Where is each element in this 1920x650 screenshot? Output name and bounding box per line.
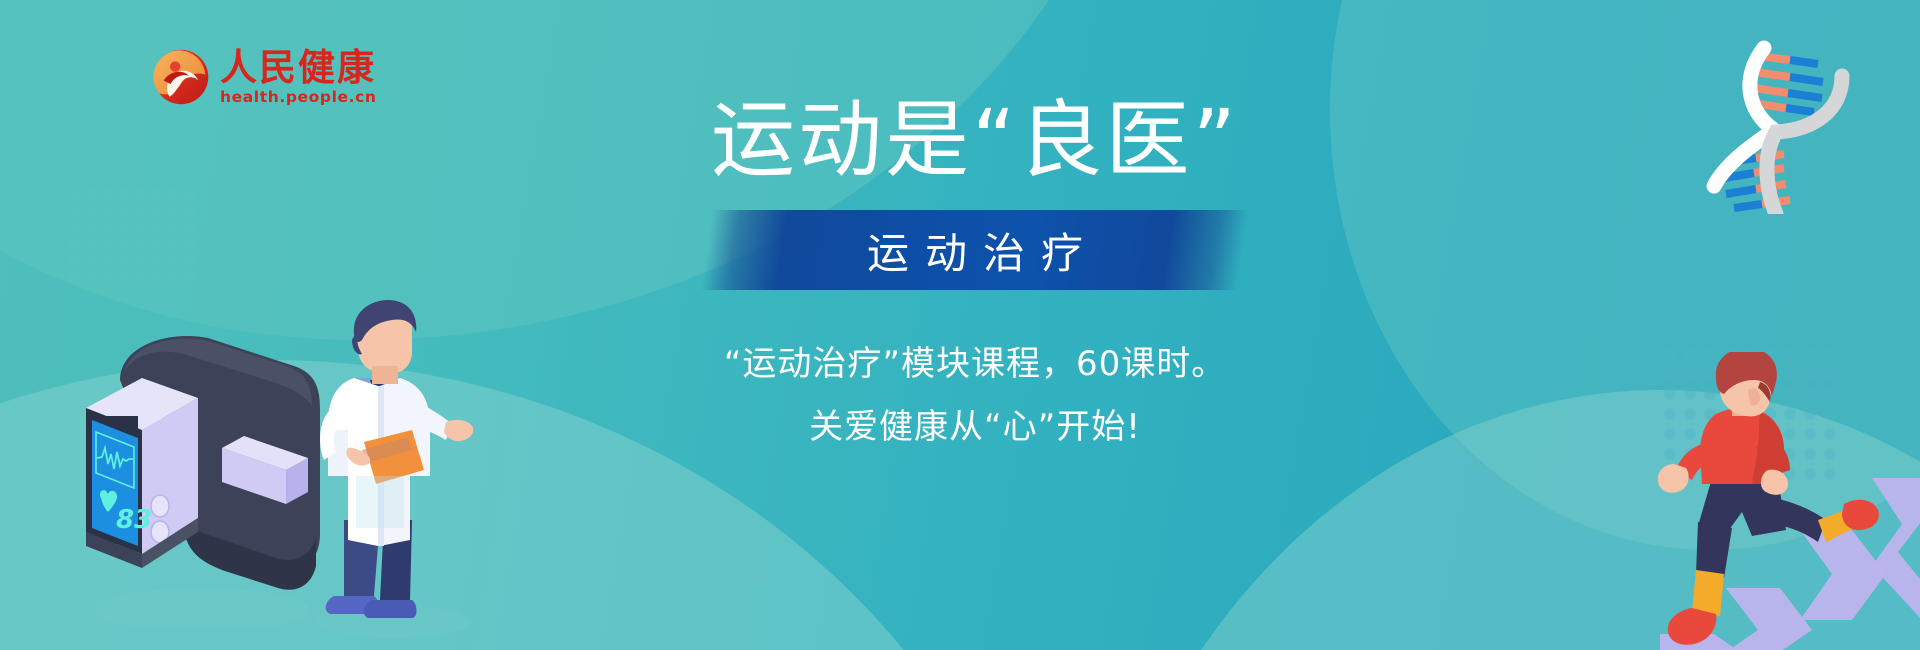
dna-helix-illustration — [1690, 14, 1920, 214]
health-campaign-banner: 人民健康 health.people.cn 运动是“良医” 运动治疗 “运动治疗… — [0, 0, 1920, 650]
subtitle-line-2: 关爱健康从“心”开始! — [809, 399, 1141, 448]
ribbon-banner: 运动治疗 — [707, 210, 1243, 290]
heart-rate-value: 83 — [116, 505, 152, 535]
smartwatch-illustration: 83 — [72, 328, 322, 618]
subtitle-line-1: “运动治疗”模块课程，60课时。 — [724, 336, 1227, 385]
runner-illustration — [1640, 352, 1920, 650]
subtitle-block: “运动治疗”模块课程，60课时。 关爱健康从“心”开始! — [724, 336, 1227, 448]
logo-name-cn: 人民健康 — [220, 49, 377, 86]
ribbon-label: 运动治疗 — [851, 220, 1099, 281]
doctor-illustration — [300, 300, 485, 640]
page-title: 运动是“良医” — [711, 96, 1239, 184]
